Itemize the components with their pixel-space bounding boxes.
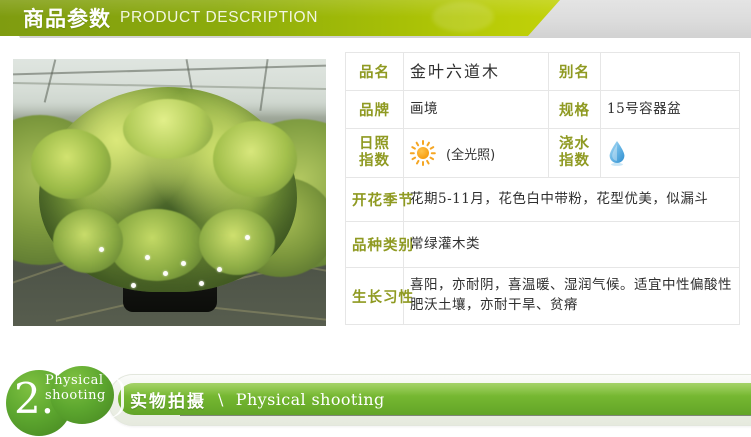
flower <box>163 271 168 276</box>
table-row: 品名 金叶六道木 别名 <box>346 53 740 91</box>
table-row: 品牌 画境 规格 15号容器盆 <box>346 91 740 129</box>
spec-label-brand: 品牌 <box>346 91 404 129</box>
banner-text-group: 实物拍摄 \ Physical shooting <box>130 383 385 415</box>
table-row: 开花季节 花期5-11月，花色白中带粉，花型优美，似漏斗 <box>346 178 740 222</box>
sunlight-note: (全光照) <box>446 144 495 163</box>
flower <box>145 255 150 260</box>
spec-label-watering-line1: 浇水 <box>555 136 594 153</box>
photo-background <box>13 59 326 326</box>
spec-label-watering-line2: 指数 <box>555 153 594 170</box>
spec-value-variety-type: 常绿灌木类 <box>404 222 740 268</box>
section-title-cn: 实物拍摄 <box>130 387 206 412</box>
flower <box>199 281 204 286</box>
banner-title-group: 商品参数 PRODUCT DESCRIPTION <box>23 0 318 36</box>
spec-label-sunlight-line1: 日照 <box>352 136 397 153</box>
leaf-cluster <box>31 129 111 199</box>
badge-caption-line1: Physical <box>45 373 106 388</box>
badge-swoosh-icon <box>99 374 124 420</box>
spec-value-sunlight: (全光照) <box>404 129 549 178</box>
table-row: 生长习性 喜阳，亦耐阴，喜温暖、湿润气候。适宜中性偏酸性肥沃土壤，亦耐干旱、贫瘠 <box>346 268 740 325</box>
table-row: 日照 指数 (全光照) 浇水 <box>346 129 740 178</box>
spec-label-specification: 规格 <box>549 91 601 129</box>
spec-value-alias <box>601 53 740 91</box>
spec-label-watering-index: 浇水 指数 <box>549 129 601 178</box>
page-title-cn: 商品参数 <box>23 3 111 33</box>
sun-icon <box>410 140 436 166</box>
banner-bar-shadow <box>180 415 751 416</box>
spec-label-alias: 别名 <box>549 53 601 91</box>
flower <box>131 283 136 288</box>
product-photo <box>13 59 326 326</box>
flower <box>181 261 186 266</box>
leaf-cluster <box>109 209 205 281</box>
spec-label-sunlight-index: 日照 指数 <box>346 129 404 178</box>
spec-label-variety-type: 品种类别 <box>346 222 404 268</box>
badge-caption-line2: shooting <box>45 388 106 403</box>
water-drop-icon <box>607 140 627 166</box>
flower <box>245 235 250 240</box>
spec-label-bloom-season: 开花季节 <box>346 178 404 222</box>
product-description-banner: 商品参数 PRODUCT DESCRIPTION <box>0 0 751 42</box>
spec-value-specification: 15号容器盆 <box>601 91 740 129</box>
product-spec-table: 品名 金叶六道木 别名 品牌 画境 规格 15号容器盆 日照 指数 <box>345 52 740 325</box>
section-number-badge: 2. Physical shooting <box>4 366 130 437</box>
leaf-cluster <box>123 99 213 159</box>
spec-value-watering <box>601 129 740 178</box>
table-row: 品种类别 常绿灌木类 <box>346 222 740 268</box>
section-title-separator: \ <box>218 390 224 409</box>
spec-value-name: 金叶六道木 <box>404 53 549 91</box>
flower <box>99 247 104 252</box>
leaf-cluster <box>213 121 297 197</box>
spec-label-name: 品名 <box>346 53 404 91</box>
banner-highlight-blob <box>432 2 494 32</box>
spec-value-growth-habit: 喜阳，亦耐阴，喜温暖、湿润气候。适宜中性偏酸性肥沃土壤，亦耐干旱、贫瘠 <box>404 268 740 325</box>
spec-label-growth-habit: 生长习性 <box>346 268 404 325</box>
flower <box>217 267 222 272</box>
spec-label-sunlight-line2: 指数 <box>352 153 397 170</box>
section-title-en: Physical shooting <box>236 390 385 409</box>
spec-value-brand: 画境 <box>404 91 549 129</box>
page-title-en: PRODUCT DESCRIPTION <box>120 9 318 28</box>
watering-indicator <box>607 140 733 166</box>
leaf-cluster <box>53 209 123 273</box>
badge-caption: Physical shooting <box>45 373 106 403</box>
leaf-cluster <box>199 209 275 275</box>
spec-value-bloom-season: 花期5-11月，花色白中带粉，花型优美，似漏斗 <box>404 178 740 222</box>
physical-shooting-banner: 实物拍摄 \ Physical shooting 2. Physical sho… <box>0 366 751 437</box>
sunlight-indicator: (全光照) <box>410 140 542 166</box>
